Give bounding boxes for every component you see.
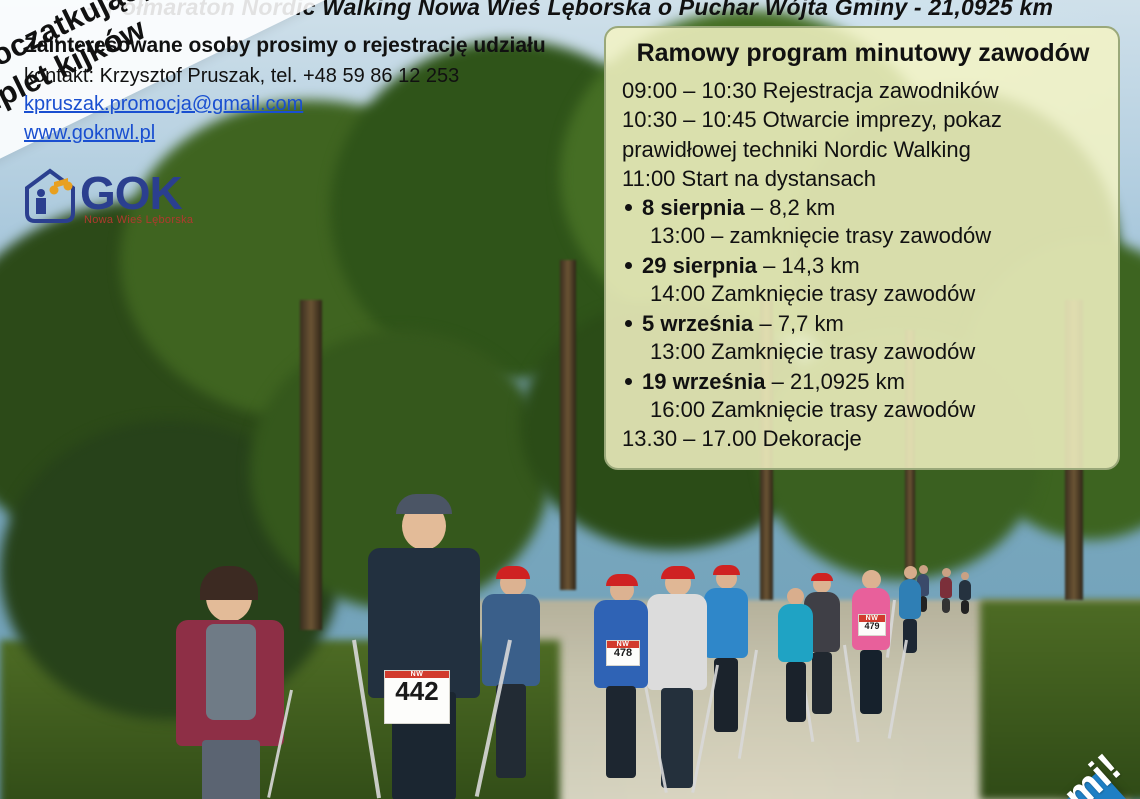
walker-blue-478: NW 478 — [592, 578, 652, 778]
program-row-2: prawidłowej techniki Nordic Walking — [622, 135, 1104, 164]
contact-website-link[interactable]: www.goknwl.pl — [24, 119, 584, 148]
program-item-distance: 8,2 km — [769, 195, 835, 220]
program-item-dash: – — [745, 195, 769, 220]
program-distance-list: 8 sierpnia – 8,2 km 13:00 – zamknięcie t… — [622, 193, 1104, 424]
walker-teal — [775, 588, 817, 728]
bullet-icon — [625, 378, 632, 385]
program-item-date: 5 września — [642, 311, 753, 336]
bib-478: NW 478 — [606, 640, 640, 666]
contact-email-link[interactable]: kpruszak.promocja@gmail.com — [24, 90, 584, 119]
program-item-date: 29 sierpnia — [642, 253, 757, 278]
contact-person-line: kontakt: Krzysztof Pruszak, tel. +48 59 … — [24, 62, 584, 90]
program-item-dash: – — [753, 311, 777, 336]
list-item: 8 sierpnia – 8,2 km 13:00 – zamknięcie t… — [622, 193, 1104, 251]
program-item-close: 13:00 Zamknięcie trasy zawodów — [642, 338, 1104, 367]
walker-woman-left — [170, 572, 300, 799]
bullet-icon — [625, 204, 632, 211]
program-item-distance: 14,3 km — [781, 253, 859, 278]
program-panel: Ramowy program minutowy zawodów 09:00 – … — [604, 26, 1120, 470]
bullet-icon — [625, 262, 632, 269]
list-item: 19 września – 21,0925 km 16:00 Zamknięci… — [622, 367, 1104, 425]
bib-479: NW 479 — [858, 614, 886, 636]
program-item-dash: – — [766, 369, 790, 394]
list-item: 5 września – 7,7 km 13:00 Zamknięcie tra… — [622, 309, 1104, 367]
walker-pink: NW 479 — [848, 570, 894, 720]
program-row-0: 09:00 – 10:30 Rejestracja zawodników — [622, 76, 1104, 105]
list-item: 29 sierpnia – 14,3 km 14:00 Zamknięcie t… — [622, 251, 1104, 309]
program-item-date: 19 września — [642, 369, 766, 394]
bib-number: 478 — [614, 647, 632, 659]
gok-logo-subtitle: Nowa Wieś Lęborska — [84, 214, 193, 226]
walker-far-2 — [938, 568, 954, 614]
program-title: Ramowy program minutowy zawodów — [622, 38, 1104, 68]
program-item-close: 14:00 Zamknięcie trasy zawodów — [642, 280, 1104, 309]
walker-mid-1 — [895, 566, 925, 656]
program-item-close: 13:00 – zamknięcie trasy zawodów — [642, 222, 1104, 251]
walker-main-442: NW 442 — [360, 492, 490, 799]
bib-number: 442 — [395, 676, 438, 706]
tree-trunk-2 — [560, 260, 576, 590]
gok-logo: GOK Nowa Wieś Lęborska — [24, 168, 244, 240]
program-row-1: 10:30 – 10:45 Otwarcie imprezy, pokaz — [622, 105, 1104, 134]
program-footer-row: 13.30 – 17.00 Dekoracje — [622, 424, 1104, 453]
bib-number: 479 — [864, 621, 879, 631]
bullet-icon — [625, 320, 632, 327]
program-item-dash: – — [757, 253, 781, 278]
bib-442: NW 442 — [384, 670, 450, 724]
program-item-date: 8 sierpnia — [642, 195, 745, 220]
tree-trunk-1 — [300, 300, 322, 630]
contact-block: Zainteresowane osoby prosimy o rejestrac… — [24, 32, 584, 148]
program-item-distance: 21,0925 km — [790, 369, 905, 394]
gok-logo-word: GOK — [80, 166, 182, 220]
poster-root: NW 479 — [0, 0, 1140, 799]
house-music-icon — [24, 168, 76, 224]
program-item-distance: 7,7 km — [778, 311, 844, 336]
walker-far-3 — [957, 572, 973, 616]
program-item-close: 16:00 Zamknięcie trasy zawodów — [642, 396, 1104, 425]
contact-registration-line: Zainteresowane osoby prosimy o rejestrac… — [24, 32, 584, 60]
program-row-3: 11:00 Start na dystansach — [622, 164, 1104, 193]
